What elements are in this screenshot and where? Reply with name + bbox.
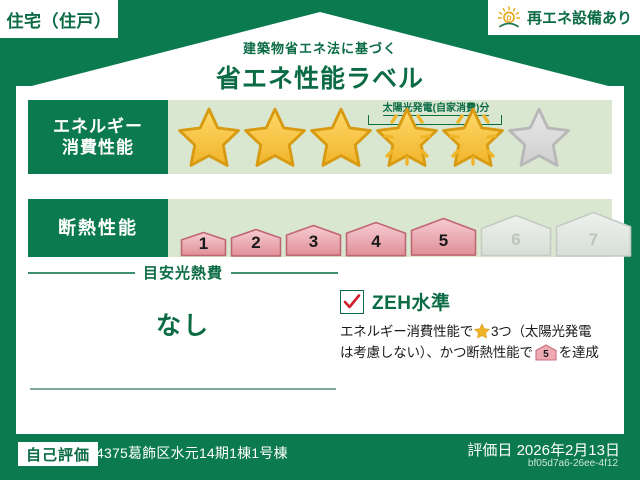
title-subtitle: 建築物省エネ法に基づく xyxy=(0,38,640,57)
cost-rule-left xyxy=(28,272,135,274)
insulation-level-active: 1 xyxy=(180,231,227,257)
energy-performance-label: 住宅（住戸） D 再エネ設備あり 建築物省エネ法に基づ xyxy=(0,0,640,480)
star-filled xyxy=(310,106,372,168)
building-type-chip: 住宅（住戸） xyxy=(0,0,118,38)
energy-label-line1: エネルギー xyxy=(53,116,143,137)
insulation-level-inactive: 7 xyxy=(555,211,632,257)
cost-bottom-divider xyxy=(30,388,336,390)
footer: 自己評価 4375葛飾区水元14期1棟1号棟 評価日 2026年2月13日 bf… xyxy=(0,434,640,480)
insulation-level-inactive: 6 xyxy=(480,214,552,257)
insulation-label: 断熱性能 xyxy=(58,217,138,240)
insulation-level-number: 5 xyxy=(410,232,477,249)
zeh-header: ZEH水準 xyxy=(340,288,620,315)
zeh-checkbox[interactable] xyxy=(340,290,364,314)
check-icon xyxy=(343,293,361,311)
insulation-level-number: 6 xyxy=(480,231,552,248)
energy-rating-area: 太陽光発電(自家消費)分 xyxy=(168,100,612,174)
insulation-level-number: 1 xyxy=(180,235,227,252)
insulation-level-active: 5 xyxy=(410,217,477,257)
star-filled xyxy=(178,106,240,168)
insulation-level-scale: 1234567 xyxy=(180,199,632,264)
zeh-desc-part2: は考慮しない）、かつ断熱性能で xyxy=(340,345,533,360)
inline-house-level-icon: 5 xyxy=(535,344,557,361)
evaluation-date: 評価日 2026年2月13日 xyxy=(467,439,620,460)
insulation-level-number: 3 xyxy=(285,233,342,250)
svg-text:D: D xyxy=(506,15,511,22)
renewable-equipment-chip: D 再エネ設備あり xyxy=(488,0,640,35)
self-evaluation-badge: 自己評価 xyxy=(18,442,98,466)
building-name: 4375葛飾区水元14期1棟1号棟 xyxy=(96,443,288,463)
utility-cost-header: 目安光熱費 xyxy=(28,262,338,283)
zeh-description: エネルギー消費性能で 3つ（太陽光発電 は考慮しない）、かつ断熱性能で 5を達成 xyxy=(340,322,620,364)
utility-cost-value: なし xyxy=(28,306,338,342)
insulation-level-number: 4 xyxy=(345,233,407,250)
cost-rule-right xyxy=(231,272,338,274)
utility-cost-title: 目安光熱費 xyxy=(143,262,223,283)
insulation-level-active: 2 xyxy=(230,228,282,257)
star-filled xyxy=(244,106,306,168)
sun-renewable-icon: D xyxy=(496,6,522,30)
title-block: 建築物省エネ法に基づく 省エネ性能ラベル xyxy=(0,38,640,95)
zeh-desc-star-count: 3つ（太陽光発電 xyxy=(491,324,591,339)
star-filled xyxy=(442,106,504,168)
insulation-level-number: 7 xyxy=(555,231,632,248)
inline-star-icon xyxy=(474,323,490,339)
renewable-chip-text: 再エネ設備あり xyxy=(527,7,632,28)
insulation-performance-label-key: 断熱性能 xyxy=(28,199,168,257)
document-id: bf05d7a6-26ee-4f12 xyxy=(528,458,618,469)
inline-house-level-number: 5 xyxy=(535,350,557,360)
star-empty xyxy=(508,106,570,168)
star-filled xyxy=(376,106,438,168)
insulation-level-active: 3 xyxy=(285,224,342,257)
zeh-desc-part3: を達成 xyxy=(559,345,599,360)
page-title: 省エネ性能ラベル xyxy=(0,59,640,95)
energy-star-rating xyxy=(178,100,570,174)
energy-performance-label-key: エネルギー 消費性能 xyxy=(28,100,168,174)
insulation-performance-row: 断熱性能 1234567 xyxy=(28,199,612,257)
zeh-desc-part1: エネルギー消費性能で xyxy=(340,324,473,339)
zeh-block: ZEH水準 エネルギー消費性能で 3つ（太陽光発電 は考慮しない）、かつ断熱性能… xyxy=(340,288,620,364)
zeh-title: ZEH水準 xyxy=(372,288,451,315)
insulation-rating-area: 1234567 xyxy=(168,199,612,257)
energy-performance-row: エネルギー 消費性能 太陽光発電(自家消費)分 xyxy=(28,100,612,174)
energy-label-line2: 消費性能 xyxy=(62,137,134,158)
insulation-level-active: 4 xyxy=(345,221,407,257)
insulation-level-number: 2 xyxy=(230,234,282,251)
building-type-text: 住宅（住戸） xyxy=(7,7,112,32)
